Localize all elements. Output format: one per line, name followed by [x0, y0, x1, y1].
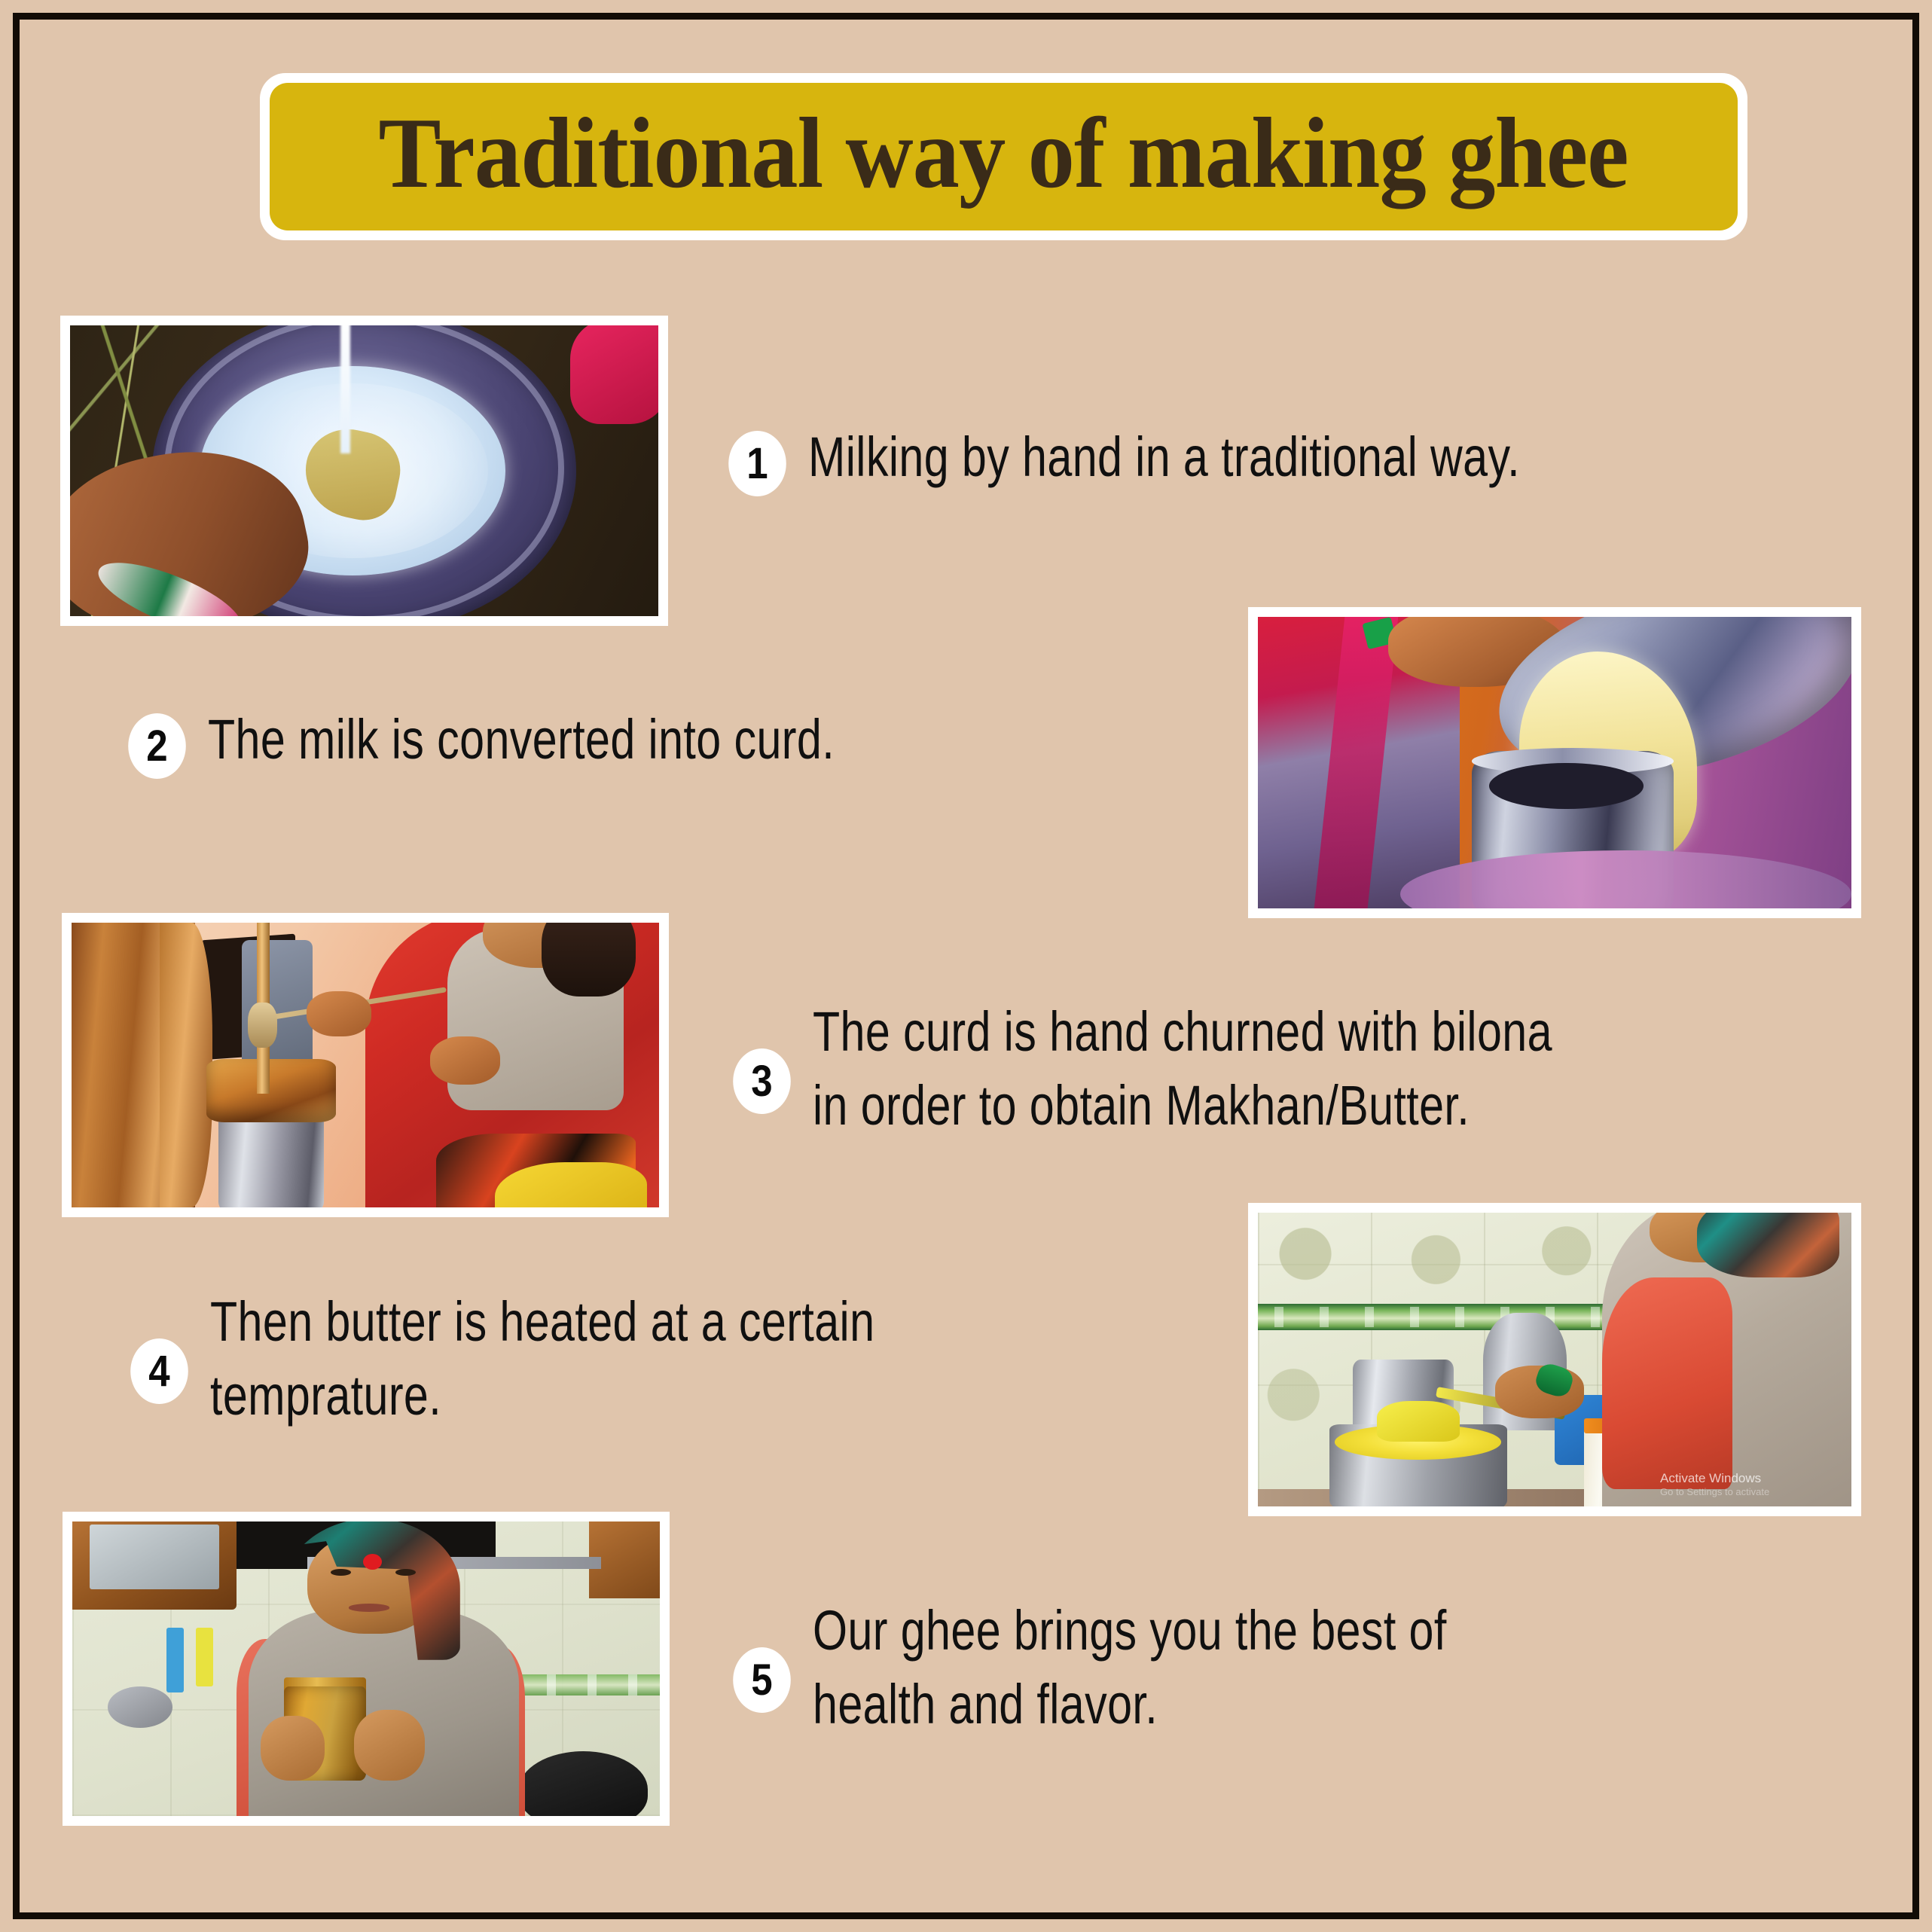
step-4: 4 Then butter is heated at a certain tem… [127, 1296, 1041, 1432]
page-title: Traditional way of making ghee [379, 102, 1628, 211]
step-5-number-badge: 5 [733, 1647, 791, 1713]
photo5-hand-right [354, 1710, 425, 1781]
step-5: 5 Our ghee brings you the best of health… [729, 1604, 1605, 1741]
step-photo-2-image [1258, 617, 1851, 908]
photo5-hand-left [261, 1716, 325, 1781]
step-1-number-badge: 1 [728, 431, 786, 496]
photo3-rope-knot [248, 1003, 277, 1048]
step-3: 3 The curd is hand churned with bilona i… [729, 1006, 1737, 1142]
step-photo-3-image [72, 923, 659, 1207]
step-photo-1-image [70, 325, 658, 616]
step-2-number-badge: 2 [128, 713, 186, 779]
photo2-pot-opening [1489, 763, 1644, 810]
photo4-headscarf [1697, 1213, 1839, 1277]
step-photo-3 [62, 913, 669, 1217]
step-3-text: The curd is hand churned with bilona in … [813, 995, 1552, 1142]
photo5-hanging-utensil-2 [196, 1628, 213, 1686]
activate-windows-watermark: Activate Windows Go to Settings to activ… [1656, 1465, 1839, 1503]
step-photo-4-image: Activate Windows Go to Settings to activ… [1258, 1213, 1851, 1506]
photo5-ladle [108, 1686, 172, 1728]
title-banner-fill: Traditional way of making ghee [270, 83, 1738, 230]
step-1: 1 Milking by hand in a traditional way. [725, 429, 1698, 496]
infographic-poster: Traditional way of making ghee 1 Milking… [0, 0, 1932, 1932]
step-photo-4: Activate Windows Go to Settings to activ… [1248, 1203, 1861, 1516]
photo3-wooden-post-2 [160, 923, 212, 1207]
photo1-milk-stream [340, 325, 349, 453]
step-2: 2 The milk is converted into curd. [124, 712, 991, 779]
step-1-text: Milking by hand in a traditional way. [808, 420, 1520, 494]
photo4-stirrer [1377, 1401, 1460, 1442]
photo5-eye-right [395, 1569, 416, 1576]
step-photo-2 [1248, 607, 1861, 918]
photo3-hair [542, 923, 636, 997]
photo1-red-cloth [570, 325, 658, 424]
step-5-text: Our ghee brings you the best of health a… [813, 1594, 1447, 1741]
photo5-bindi [363, 1554, 382, 1570]
photo3-steel-pot [218, 1116, 324, 1207]
watermark-line-1: Activate Windows [1660, 1470, 1839, 1486]
photo3-hand-left [307, 991, 371, 1036]
step-3-number-badge: 3 [733, 1048, 791, 1114]
step-photo-5-image [72, 1521, 660, 1816]
photo4-red-sleeve [1602, 1277, 1732, 1489]
photo3-bilona-churn [206, 1059, 336, 1122]
photo5-hanging-utensil-1 [166, 1628, 184, 1692]
photo5-cabinet-glass [90, 1525, 219, 1589]
step-4-text: Then butter is heated at a certain tempr… [210, 1285, 874, 1432]
title-banner: Traditional way of making ghee [260, 73, 1747, 240]
photo5-eye-left [331, 1569, 351, 1576]
step-2-text: The milk is converted into curd. [208, 703, 835, 777]
step-photo-5 [63, 1512, 670, 1826]
photo3-hand-right [430, 1036, 501, 1085]
step-4-number-badge: 4 [130, 1338, 188, 1404]
watermark-line-2: Go to Settings to activate [1660, 1486, 1839, 1498]
photo5-mouth [349, 1604, 390, 1611]
step-photo-1 [60, 316, 668, 626]
